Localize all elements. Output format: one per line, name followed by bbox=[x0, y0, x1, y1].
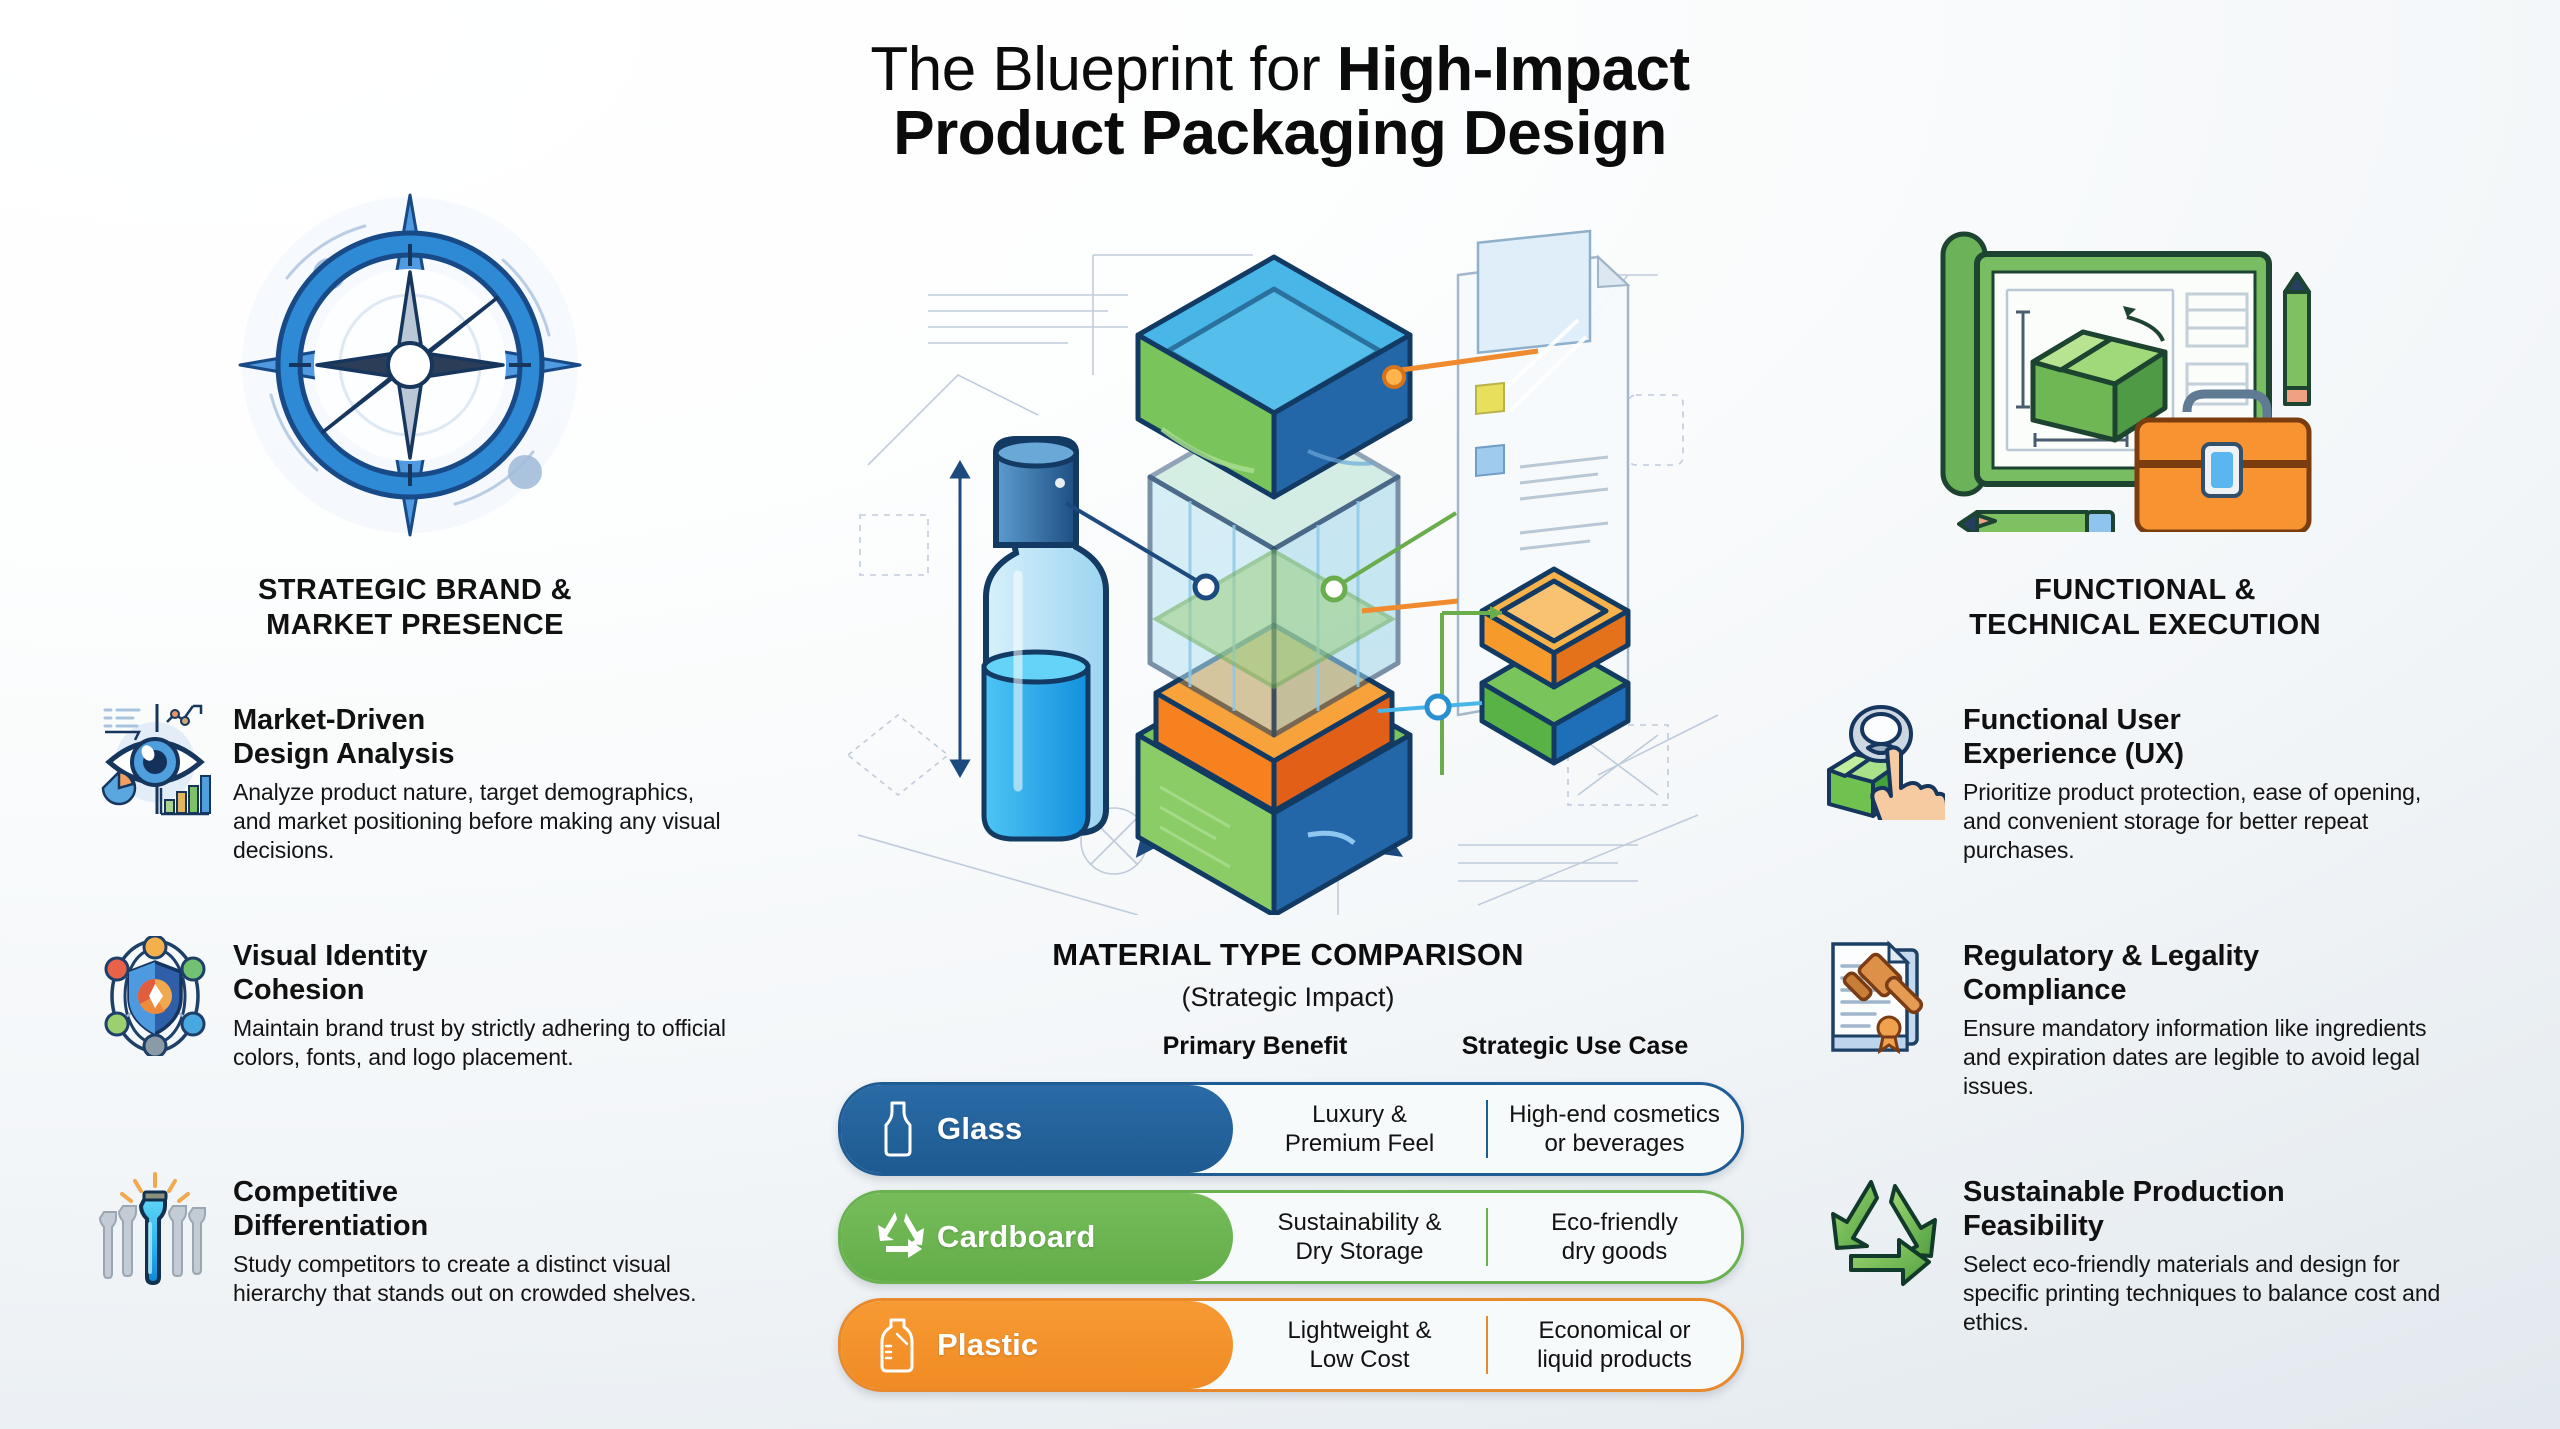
item-title-line2: Compliance bbox=[1963, 974, 2126, 1006]
cell-strategic-use-case: Eco-friendly dry goods bbox=[1486, 1208, 1741, 1267]
usecase-line1: High-end cosmetics bbox=[1509, 1101, 1720, 1128]
benefit-line1: Sustainability & bbox=[1277, 1209, 1441, 1236]
item-title: Market-Driven Design Analysis bbox=[233, 704, 735, 772]
benefit-line1: Lightweight & bbox=[1287, 1317, 1431, 1344]
item-title-line2: Feasibility bbox=[1963, 1210, 2104, 1242]
item-title-line2: Experience (UX) bbox=[1963, 738, 2184, 770]
material-pill-glass: Glass bbox=[841, 1085, 1233, 1173]
recycle-icon bbox=[1825, 1172, 1945, 1292]
title-line1-bold: High-Impact bbox=[1337, 35, 1690, 104]
item-body: Ensure mandatory information like ingred… bbox=[1963, 1014, 2465, 1102]
row-cells: Sustainability & Dry Storage Eco-friendl… bbox=[1233, 1193, 1741, 1281]
usecase-line2: or beverages bbox=[1544, 1130, 1684, 1157]
list-item: Visual Identity Cohesion Maintain brand … bbox=[95, 936, 735, 1072]
item-title-line1: Sustainable Production bbox=[1963, 1176, 2285, 1208]
right-heading-line1: FUNCTIONAL & bbox=[2034, 574, 2256, 606]
usecase-line1: Economical or bbox=[1538, 1317, 1690, 1344]
left-heading-line1: STRATEGIC BRAND & bbox=[258, 574, 572, 606]
list-item: Functional User Experience (UX) Prioriti… bbox=[1825, 700, 2465, 865]
glass-bottle-icon bbox=[875, 1100, 921, 1158]
cell-primary-benefit: Sustainability & Dry Storage bbox=[1233, 1208, 1486, 1267]
item-title-line1: Functional User bbox=[1963, 704, 2181, 736]
item-title-line2: Cohesion bbox=[233, 974, 364, 1006]
list-item: Regulatory & Legality Compliance Ensure … bbox=[1825, 936, 2465, 1101]
table-row[interactable]: Glass Luxury & Premium Feel High-end cos… bbox=[838, 1082, 1744, 1176]
item-title-line2: Design Analysis bbox=[233, 738, 454, 770]
right-heading-line2: TECHNICAL EXECUTION bbox=[1969, 609, 2321, 641]
item-title-line1: Visual Identity bbox=[233, 940, 428, 972]
list-item: Competitive Differentiation Study compet… bbox=[95, 1172, 735, 1308]
item-title: Competitive Differentiation bbox=[233, 1176, 735, 1244]
row-cells: Luxury & Premium Feel High-end cosmetics… bbox=[1233, 1085, 1741, 1173]
eye-analytics-icon bbox=[95, 700, 215, 820]
material-name: Cardboard bbox=[937, 1219, 1096, 1255]
item-body: Study competitors to create a distinct v… bbox=[233, 1250, 735, 1308]
table-row[interactable]: Plastic Lightweight & Low Cost Economica… bbox=[838, 1298, 1744, 1392]
item-title-line2: Differentiation bbox=[233, 1210, 428, 1242]
usecase-line1: Eco-friendly bbox=[1551, 1209, 1678, 1236]
usecase-line2: liquid products bbox=[1537, 1346, 1692, 1373]
comparison-title: MATERIAL TYPE COMPARISON bbox=[838, 937, 1738, 973]
item-title-line1: Regulatory & Legality bbox=[1963, 940, 2259, 972]
column-header-primary-benefit: Primary Benefit bbox=[1140, 1032, 1370, 1061]
left-heading-line2: MARKET PRESENCE bbox=[266, 609, 564, 641]
cell-primary-benefit: Luxury & Premium Feel bbox=[1233, 1100, 1486, 1159]
title-line2: Product Packaging Design bbox=[0, 102, 2560, 166]
item-body: Prioritize product protection, ease of o… bbox=[1963, 778, 2465, 866]
row-cells: Lightweight & Low Cost Economical or liq… bbox=[1233, 1301, 1741, 1389]
left-column-heading: STRATEGIC BRAND & MARKET PRESENCE bbox=[95, 573, 735, 644]
item-title: Regulatory & Legality Compliance bbox=[1963, 940, 2465, 1008]
material-name: Glass bbox=[937, 1111, 1022, 1147]
table-row[interactable]: Cardboard Sustainability & Dry Storage E… bbox=[838, 1190, 1744, 1284]
isometric-packaging-blueprint-illustration bbox=[838, 215, 1738, 915]
blueprint-toolbox-icon bbox=[1915, 212, 2335, 532]
shield-brand-identity-icon bbox=[95, 936, 215, 1056]
benefit-line2: Dry Storage bbox=[1295, 1238, 1423, 1265]
gavel-document-icon bbox=[1825, 936, 1945, 1056]
item-body: Analyze product nature, target demograph… bbox=[233, 778, 735, 866]
item-title: Sustainable Production Feasibility bbox=[1963, 1176, 2465, 1244]
title-line1-light: The Blueprint for bbox=[870, 35, 1337, 104]
compass-icon bbox=[225, 180, 595, 550]
item-body: Maintain brand trust by strictly adherin… bbox=[233, 1014, 735, 1072]
page-title: The Blueprint for High-Impact Product Pa… bbox=[0, 38, 2560, 166]
cell-strategic-use-case: Economical or liquid products bbox=[1486, 1316, 1741, 1375]
cell-primary-benefit: Lightweight & Low Cost bbox=[1233, 1316, 1486, 1375]
material-pill-cardboard: Cardboard bbox=[841, 1193, 1233, 1281]
right-column-heading: FUNCTIONAL & TECHNICAL EXECUTION bbox=[1825, 573, 2465, 644]
column-header-strategic-use-case: Strategic Use Case bbox=[1430, 1032, 1720, 1061]
recycle-icon bbox=[875, 1208, 921, 1266]
plastic-jug-icon bbox=[875, 1316, 921, 1374]
hand-tap-package-icon bbox=[1825, 700, 1945, 820]
benefit-line1: Luxury & bbox=[1312, 1101, 1407, 1128]
item-title: Functional User Experience (UX) bbox=[1963, 704, 2465, 772]
benefit-line2: Low Cost bbox=[1309, 1346, 1409, 1373]
list-item: Sustainable Production Feasibility Selec… bbox=[1825, 1172, 2465, 1337]
item-body: Select eco-friendly materials and design… bbox=[1963, 1250, 2465, 1338]
benefit-line2: Premium Feel bbox=[1285, 1130, 1434, 1157]
list-item: Market-Driven Design Analysis Analyze pr… bbox=[95, 700, 735, 865]
item-title-line1: Competitive bbox=[233, 1176, 398, 1208]
material-name: Plastic bbox=[937, 1327, 1038, 1363]
material-pill-plastic: Plastic bbox=[841, 1301, 1233, 1389]
item-title: Visual Identity Cohesion bbox=[233, 940, 735, 1008]
standout-bottle-icon bbox=[95, 1172, 215, 1292]
infographic-canvas: The Blueprint for High-Impact Product Pa… bbox=[0, 0, 2560, 1429]
usecase-line2: dry goods bbox=[1562, 1238, 1667, 1265]
cell-strategic-use-case: High-end cosmetics or beverages bbox=[1486, 1100, 1741, 1159]
item-title-line1: Market-Driven bbox=[233, 704, 425, 736]
comparison-subtitle: (Strategic Impact) bbox=[838, 982, 1738, 1013]
